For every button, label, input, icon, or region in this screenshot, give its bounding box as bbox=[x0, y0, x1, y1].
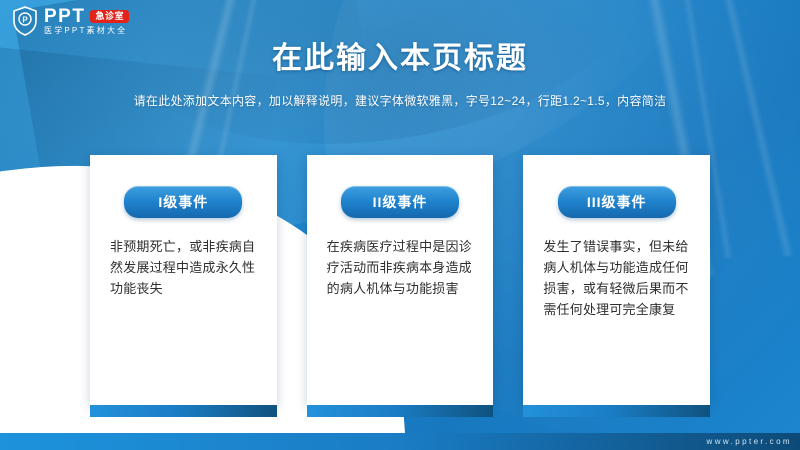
logo-badge: 急诊室 bbox=[90, 10, 129, 23]
footer-bar: www.ppter.com bbox=[0, 433, 800, 450]
card-level-2[interactable]: II级事件 在疾病医疗过程中是因诊疗活动而非疾病本身造成的病人机体与功能损害 bbox=[307, 155, 494, 405]
logo-text-group: PPT 急诊室 医学PPT素材大全 bbox=[44, 7, 129, 35]
card-level-3[interactable]: III级事件 发生了错误事实，但未给病人机体与功能造成任何损害，或有轻微后果而不… bbox=[523, 155, 710, 405]
card-row: I级事件 非预期死亡，或非疾病自然发展过程中造成永久性功能丧失 II级事件 在疾… bbox=[90, 155, 710, 405]
card-accent-bar bbox=[90, 405, 277, 417]
card-level-1[interactable]: I级事件 非预期死亡，或非疾病自然发展过程中造成永久性功能丧失 bbox=[90, 155, 277, 405]
page-title: 在此输入本页标题 bbox=[0, 33, 800, 77]
card-badge[interactable]: I级事件 bbox=[124, 186, 242, 218]
slide-canvas: P PPT 急诊室 医学PPT素材大全 在此输入本页标题 请在此处添加文本内容，… bbox=[0, 0, 800, 450]
page-subtitle: 请在此处添加文本内容，加以解释说明，建议字体微软雅黑，字号12~24，行距1.2… bbox=[0, 92, 800, 109]
card-body-text: 非预期死亡，或非疾病自然发展过程中造成永久性功能丧失 bbox=[110, 236, 257, 299]
svg-text:P: P bbox=[22, 16, 28, 25]
card-body-text: 在疾病医疗过程中是因诊疗活动而非疾病本身造成的病人机体与功能损害 bbox=[327, 236, 474, 299]
card-badge[interactable]: III级事件 bbox=[558, 186, 676, 218]
card-body-text: 发生了错误事实，但未给病人机体与功能造成任何损害，或有轻微后果而不需任何处理可完… bbox=[543, 236, 690, 320]
shield-p-icon: P bbox=[12, 6, 38, 36]
card-badge[interactable]: II级事件 bbox=[341, 186, 459, 218]
logo-subtitle: 医学PPT素材大全 bbox=[44, 27, 129, 35]
logo-primary-row: PPT 急诊室 bbox=[44, 7, 129, 26]
brand-logo: P PPT 急诊室 医学PPT素材大全 bbox=[12, 6, 129, 36]
footer-url: www.ppter.com bbox=[707, 437, 792, 446]
logo-brand-text: PPT bbox=[44, 7, 85, 26]
card-accent-bar bbox=[307, 405, 494, 417]
card-accent-bar bbox=[523, 405, 710, 417]
